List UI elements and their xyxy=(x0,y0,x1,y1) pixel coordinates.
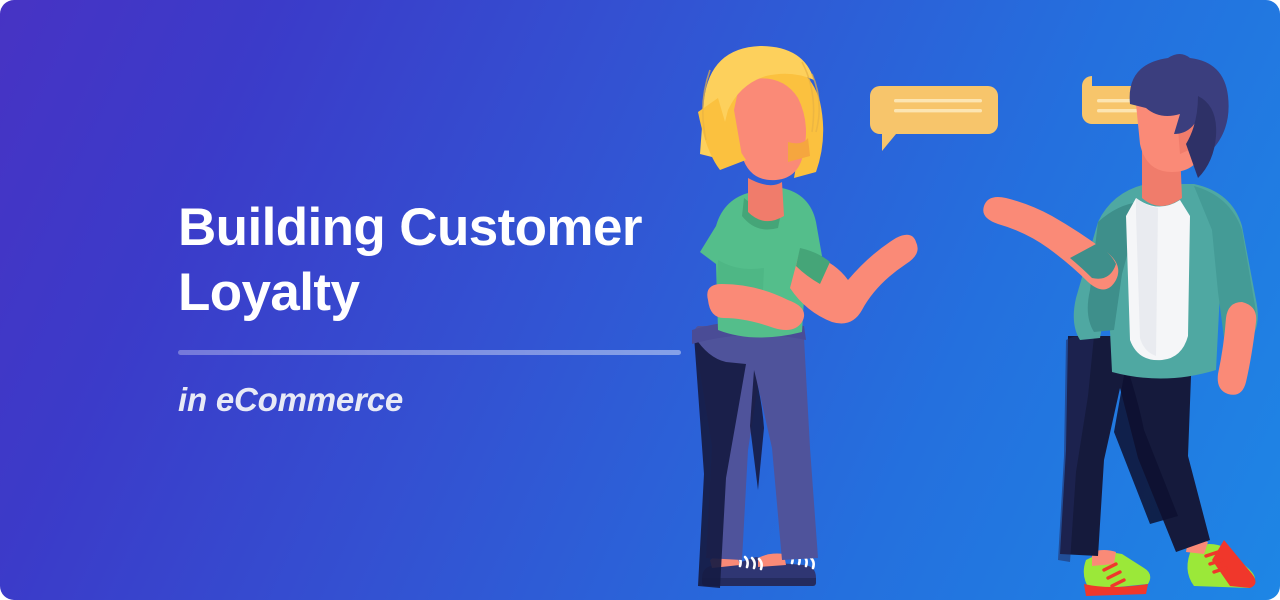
hero-banner: Building CustomerLoyalty in eCommerce xyxy=(0,0,1280,600)
title-divider xyxy=(178,350,681,355)
conversation-illustration xyxy=(680,0,1280,600)
woman-neck xyxy=(748,178,784,221)
headline-line-1: Building Customer xyxy=(178,198,642,257)
speech-bubble-left-icon xyxy=(870,86,998,151)
woman-pants xyxy=(692,321,818,588)
man-figure xyxy=(983,54,1258,596)
man-shoes-icon xyxy=(1084,539,1256,596)
man-tshirt xyxy=(1126,198,1190,360)
page-subtitle: in eCommerce xyxy=(178,381,698,419)
headline-line-2: Loyalty xyxy=(178,261,698,326)
page-title: Building CustomerLoyalty xyxy=(178,196,698,325)
hero-text-block: Building CustomerLoyalty in eCommerce xyxy=(178,196,698,419)
